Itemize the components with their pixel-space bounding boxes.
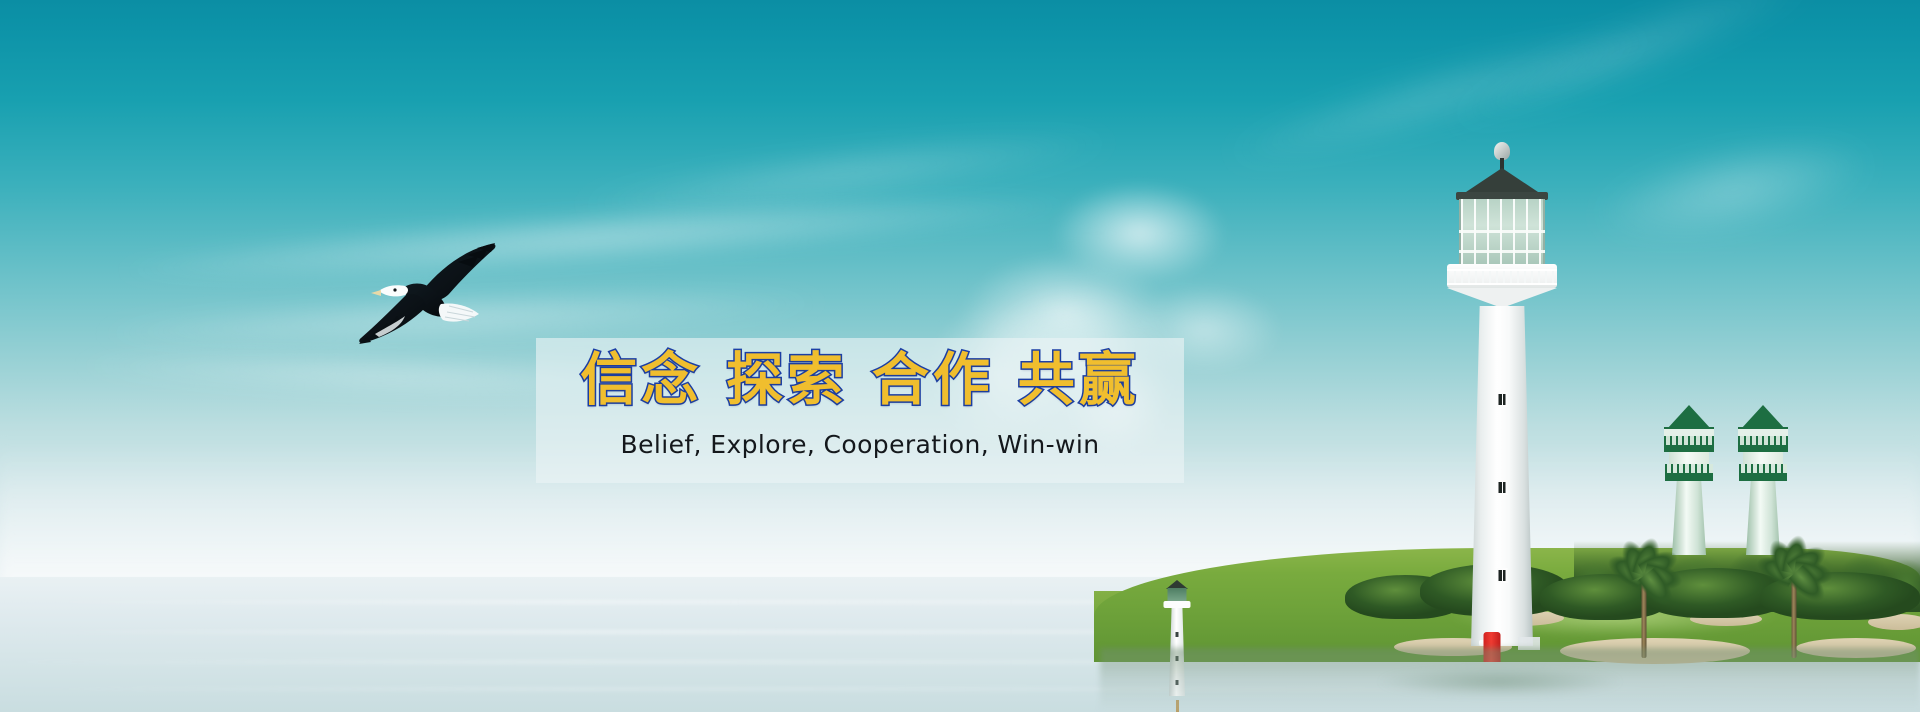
lighthouse-window — [1497, 392, 1508, 407]
lighthouse-railing — [1447, 269, 1557, 285]
small-lighthouse-lantern — [1168, 588, 1187, 602]
water-reflection — [1330, 668, 1670, 702]
palm-tree — [1790, 558, 1798, 658]
palm-tree — [1640, 560, 1648, 658]
hero-banner: 信念 探索 合作 共赢 Belief, Explore, Cooperation… — [0, 0, 1920, 712]
slogan-headline-cn: 信念 探索 合作 共赢 — [580, 346, 1140, 416]
lighthouse-window — [1497, 568, 1508, 583]
lighthouse-shaft — [1471, 306, 1533, 646]
white-lighthouse-tower — [1437, 142, 1567, 662]
lighthouse-window — [1497, 480, 1508, 495]
soaring-bald-eagle — [345, 238, 505, 363]
slogan-panel: 信念 探索 合作 共赢 Belief, Explore, Cooperation… — [536, 338, 1184, 483]
green-capped-tower — [1662, 405, 1716, 555]
slogan-subline-en: Belief, Explore, Cooperation, Win-win — [621, 430, 1100, 459]
